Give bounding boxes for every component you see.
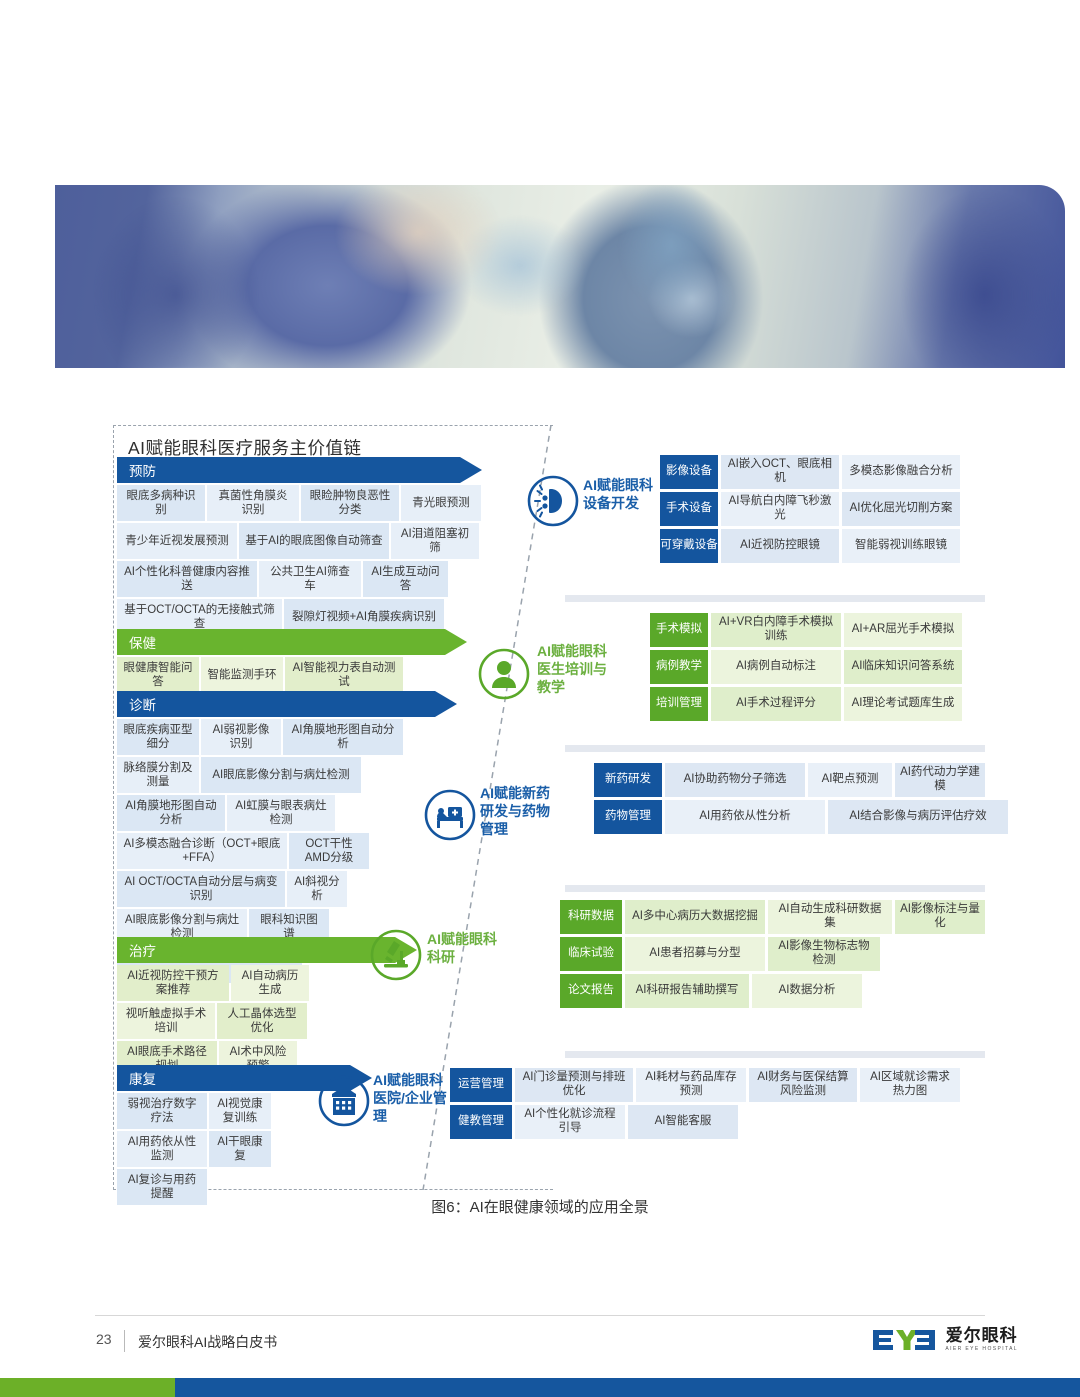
branch-cell: AI影像生物标志物检测 <box>768 937 880 971</box>
branch-divider <box>565 745 985 752</box>
branch-row: 手术模拟AI+VR白内障手术模拟训练AI+AR屈光手术模拟 <box>650 613 962 647</box>
branch-cell: AI耗材与药品库存预测 <box>636 1068 746 1102</box>
branch-cell: AI协助药物分子筛选 <box>665 763 805 797</box>
branch-divider <box>565 885 985 892</box>
branch-divider <box>565 595 985 602</box>
branch-matrix-2: 手术模拟AI+VR白内障手术模拟训练AI+AR屈光手术模拟病例教学AI病例自动标… <box>650 613 962 721</box>
branch-cell: AI临床知识问答系统 <box>844 650 962 684</box>
footer-accent-green <box>0 1378 175 1397</box>
photo-blur-overlay <box>55 185 1065 368</box>
footer-accent-blue <box>175 1378 1080 1397</box>
stage-row: AI多模态融合诊断（OCT+眼底+FFA）OCT干性AMD分级 <box>117 833 457 869</box>
page-number: 23 <box>96 1331 112 1347</box>
stage-cell: 公共卫生AI筛查车 <box>259 561 361 597</box>
stage-cell: 基于AI的眼底图像自动筛查 <box>239 523 389 559</box>
stage-cell: AI视觉康复训练 <box>209 1093 271 1129</box>
branch-row: 病例教学AI病例自动标注AI临床知识问答系统 <box>650 650 962 684</box>
stage-cell: AI斜视分析 <box>287 871 347 907</box>
stage-row: AI个性化科普健康内容推送公共卫生AI筛查车AI生成互动问答 <box>117 561 482 597</box>
branch-row: 论文报告AI科研报告辅助撰写AI数据分析 <box>560 974 985 1008</box>
header-photo <box>55 185 1065 368</box>
stage-cell: AI角膜地形图自动分析 <box>283 719 403 755</box>
stage-cell: AI弱视影像识别 <box>201 719 281 755</box>
branch-tag: 健教管理 <box>450 1105 512 1139</box>
value-chain-diagram: AI赋能眼科医疗服务主价值链 预防眼底多病种识别真菌性角膜炎识别眼睑肿物良恶性分… <box>0 415 1080 1190</box>
branch-cell: AI+AR屈光手术模拟 <box>844 613 962 647</box>
branch-cell: AI嵌入OCT、眼底相机 <box>721 455 839 489</box>
stage-row: 视听触虚拟手术培训人工晶体选型优化 <box>117 1003 417 1039</box>
branch-tag: 病例教学 <box>650 650 708 684</box>
stage-cell: 眼底多病种识别 <box>117 485 205 521</box>
branch-matrix-5: 运营管理AI门诊量预测与排班优化AI耗材与药品库存预测AI财务与医保结算风险监测… <box>450 1068 960 1139</box>
stage-cell: 智能监测手环 <box>201 657 283 693</box>
stage-header-1: 预防 <box>117 457 482 483</box>
branch-matrix-1: 影像设备AI嵌入OCT、眼底相机多模态影像融合分析手术设备AI导航白内障飞秒激光… <box>660 455 960 563</box>
document-title-footer: 爱尔眼科AI战略白皮书 <box>138 1332 277 1352</box>
stage-cell: 眼健康智能问答 <box>117 657 199 693</box>
branch-row: 手术设备AI导航白内障飞秒激光AI优化屈光切削方案 <box>660 492 960 526</box>
figure-caption: 图6：AI在眼健康领域的应用全景 <box>0 1196 1080 1217</box>
branch-matrix-4: 科研数据AI多中心病历大数据挖掘AI自动生成科研数据集AI影像标注与量化临床试验… <box>560 900 985 1008</box>
stage-cell: AI角膜地形图自动分析 <box>117 795 225 831</box>
branch-icon-wrapper-5 <box>318 1075 370 1127</box>
stage-cell: AI生成互动问答 <box>363 561 448 597</box>
branch-row: 新药研发AI协助药物分子筛选AI靶点预测AI药代动力学建模 <box>594 763 1008 797</box>
brand-logo: 爱尔眼科 AIER EYE HOSPITAL <box>871 1327 1018 1352</box>
stage-header-3: 诊断 <box>117 691 457 717</box>
brain-ai-icon <box>527 475 579 527</box>
branch-cell: 智能弱视训练眼镜 <box>842 529 960 563</box>
branch-tag: 新药研发 <box>594 763 662 797</box>
stage-cell: AI智能视力表自动测试 <box>285 657 403 693</box>
branch-tag: 药物管理 <box>594 800 662 834</box>
microscope-icon <box>370 929 422 981</box>
stage-cell: AI近视防控干预方案推荐 <box>117 965 229 1001</box>
stage-header-2: 保健 <box>117 629 467 655</box>
branch-divider <box>565 1051 985 1058</box>
branch-cell: 多模态影像融合分析 <box>842 455 960 489</box>
branch-label-4: AI赋能眼科科研 <box>427 931 505 967</box>
stage-row: AI用药依从性监测AI干眼康复 <box>117 1131 372 1167</box>
branch-label-1: AI赋能眼科设备开发 <box>583 477 655 513</box>
branch-tag: 科研数据 <box>560 900 622 934</box>
stage-name: 诊断 <box>129 694 156 714</box>
branch-icon-wrapper-2 <box>478 648 530 700</box>
branch-row: 影像设备AI嵌入OCT、眼底相机多模态影像融合分析 <box>660 455 960 489</box>
branch-tag: 论文报告 <box>560 974 622 1008</box>
stage-row: AI OCT/OCTA自动分层与病变识别AI斜视分析 <box>117 871 457 907</box>
stage-cell: AI OCT/OCTA自动分层与病变识别 <box>117 871 285 907</box>
stage-name: 治疗 <box>129 940 156 960</box>
stage-name: 预防 <box>129 460 156 480</box>
branch-tag: 运营管理 <box>450 1068 512 1102</box>
branch-cell: AI+VR白内障手术模拟训练 <box>711 613 841 647</box>
branch-cell: AI影像标注与量化 <box>895 900 985 934</box>
branch-label-2: AI赋能眼科医生培训与教学 <box>537 643 617 697</box>
stage-cell: AI虹膜与眼表病灶检测 <box>227 795 335 831</box>
stage-cell: AI干眼康复 <box>209 1131 271 1167</box>
stage-cell: AI用药依从性监测 <box>117 1131 207 1167</box>
stage-row: 青少年近视发展预测基于AI的眼底图像自动筛查AI泪道阻塞初筛 <box>117 523 482 559</box>
stage-cell: 人工晶体选型优化 <box>217 1003 307 1039</box>
footer-divider <box>95 1315 985 1316</box>
branch-tag: 手术模拟 <box>650 613 708 647</box>
stage-name: 保健 <box>129 632 156 652</box>
branch-cell: AI门诊量预测与排班优化 <box>515 1068 633 1102</box>
branch-cell: AI结合影像与病历评估疗效 <box>828 800 1008 834</box>
stage-arrow-shape <box>117 691 457 717</box>
stage-1: 预防眼底多病种识别真菌性角膜炎识别眼睑肿物良恶性分类青光眼预测青少年近视发展预测… <box>117 457 482 635</box>
stage-cell: AI泪道阻塞初筛 <box>391 523 479 559</box>
stage-cell: AI眼底影像分割与病灶检测 <box>201 757 361 793</box>
stage-cell: 青光眼预测 <box>401 485 481 521</box>
branch-matrix-3: 新药研发AI协助药物分子筛选AI靶点预测AI药代动力学建模药物管理AI用药依从性… <box>594 763 1008 834</box>
footer-separator <box>124 1330 125 1352</box>
stage-cell: AI多模态融合诊断（OCT+眼底+FFA） <box>117 833 287 869</box>
branch-tag: 可穿戴设备 <box>660 529 718 563</box>
stage-cell: 青少年近视发展预测 <box>117 523 237 559</box>
branch-cell: AI区域就诊需求热力图 <box>860 1068 960 1102</box>
branch-cell: AI优化屈光切削方案 <box>842 492 960 526</box>
eye-logo-mark <box>871 1328 937 1352</box>
logo-chinese-name: 爱尔眼科 <box>946 1327 1018 1344</box>
branch-cell: AI科研报告辅助撰写 <box>625 974 749 1008</box>
stage-cell: OCT干性AMD分级 <box>289 833 369 869</box>
branch-cell: AI财务与医保结算风险监测 <box>749 1068 857 1102</box>
branch-row: 运营管理AI门诊量预测与排班优化AI耗材与药品库存预测AI财务与医保结算风险监测… <box>450 1068 960 1102</box>
doctor-icon <box>478 648 530 700</box>
branch-cell: AI近视防控眼镜 <box>721 529 839 563</box>
branch-icon-wrapper-1 <box>527 475 579 527</box>
logo-english-name: AIER EYE HOSPITAL <box>945 1346 1018 1352</box>
stage-name: 康复 <box>129 1068 156 1088</box>
hospital-building-icon <box>318 1075 370 1127</box>
branch-cell: AI导航白内障飞秒激光 <box>721 492 839 526</box>
branch-cell: AI靶点预测 <box>808 763 892 797</box>
branch-label-5: AI赋能眼科医院/企业管理 <box>373 1072 453 1126</box>
branch-cell: AI多中心病历大数据挖掘 <box>625 900 765 934</box>
branch-cell: AI自动生成科研数据集 <box>768 900 892 934</box>
stage-cell: 眼睑肿物良恶性分类 <box>301 485 399 521</box>
branch-row: 科研数据AI多中心病历大数据挖掘AI自动生成科研数据集AI影像标注与量化 <box>560 900 985 934</box>
branch-row: 可穿戴设备AI近视防控眼镜智能弱视训练眼镜 <box>660 529 960 563</box>
stage-2: 保健眼健康智能问答智能监测手环AI智能视力表自动测试 <box>117 629 467 693</box>
branch-cell: AI患者招募与分型 <box>625 937 765 971</box>
branch-icon-wrapper-4 <box>370 929 422 981</box>
stage-row: AI角膜地形图自动分析AI虹膜与眼表病灶检测 <box>117 795 457 831</box>
stage-cell: 视听触虚拟手术培训 <box>117 1003 215 1039</box>
stage-arrow-shape <box>117 457 482 483</box>
stage-row: 眼底多病种识别真菌性角膜炎识别眼睑肿物良恶性分类青光眼预测 <box>117 485 482 521</box>
branch-cell: AI个性化就诊流程引导 <box>515 1105 625 1139</box>
branch-cell: AI用药依从性分析 <box>665 800 825 834</box>
branch-tag: 临床试验 <box>560 937 622 971</box>
stage-cell: 眼底疾病亚型细分 <box>117 719 199 755</box>
branch-tag: 影像设备 <box>660 455 718 489</box>
stage-arrow-shape <box>117 629 467 655</box>
branch-tag: 培训管理 <box>650 687 708 721</box>
stage-row: 眼底疾病亚型细分AI弱视影像识别AI角膜地形图自动分析 <box>117 719 457 755</box>
branch-row: 培训管理AI手术过程评分AI理论考试题库生成 <box>650 687 962 721</box>
branch-cell: AI药代动力学建模 <box>895 763 985 797</box>
branch-cell: AI手术过程评分 <box>711 687 841 721</box>
branch-row: 临床试验AI患者招募与分型AI影像生物标志物检测 <box>560 937 985 971</box>
branch-label-3: AI赋能新药研发与药物管理 <box>480 785 560 839</box>
branch-icon-wrapper-3 <box>424 789 476 841</box>
stage-cell: AI自动病历生成 <box>231 965 309 1001</box>
branch-row: 药物管理AI用药依从性分析AI结合影像与病历评估疗效 <box>594 800 1008 834</box>
branch-cell: AI数据分析 <box>752 974 862 1008</box>
stage-row: 眼健康智能问答智能监测手环AI智能视力表自动测试 <box>117 657 467 693</box>
branch-cell: AI病例自动标注 <box>711 650 841 684</box>
branch-row: 健教管理AI个性化就诊流程引导AI智能客服 <box>450 1105 960 1139</box>
stage-row: 脉络膜分割及测量AI眼底影像分割与病灶检测 <box>117 757 457 793</box>
stage-cell: AI个性化科普健康内容推送 <box>117 561 257 597</box>
stage-cell: 弱视治疗数字疗法 <box>117 1093 207 1129</box>
stage-cell: 真菌性角膜炎识别 <box>207 485 299 521</box>
hospital-bed-icon <box>424 789 476 841</box>
branch-cell: AI理论考试题库生成 <box>844 687 962 721</box>
branch-cell: AI智能客服 <box>628 1105 738 1139</box>
branch-tag: 手术设备 <box>660 492 718 526</box>
stage-cell: 脉络膜分割及测量 <box>117 757 199 793</box>
